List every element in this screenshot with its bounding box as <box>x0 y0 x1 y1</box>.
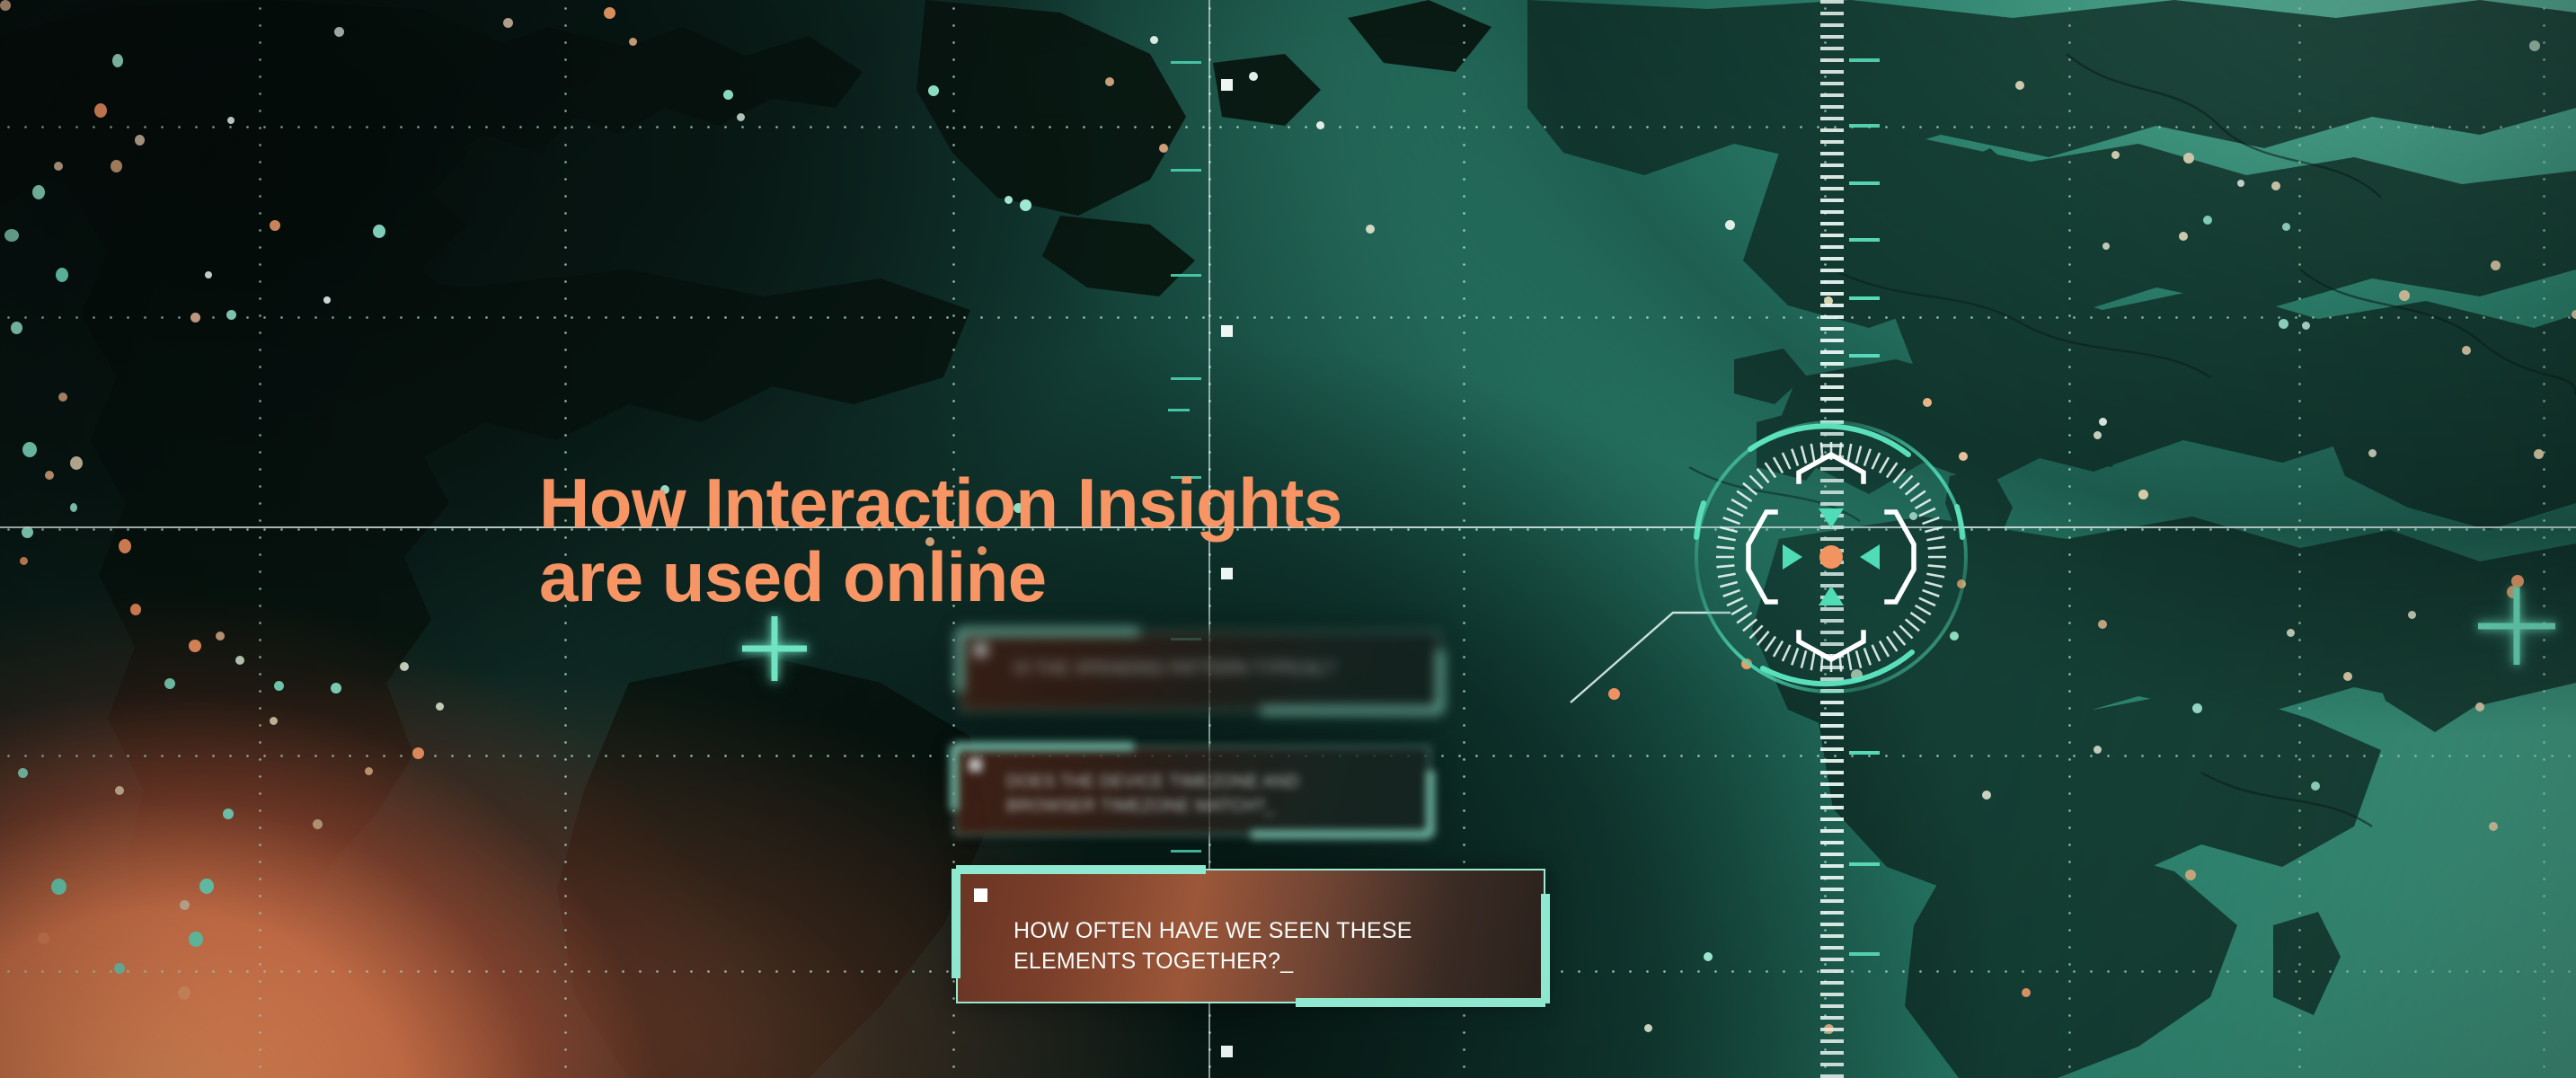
background-vignette <box>0 0 2576 1078</box>
hero-banner: How Interaction Insights are used online… <box>0 0 2576 1078</box>
